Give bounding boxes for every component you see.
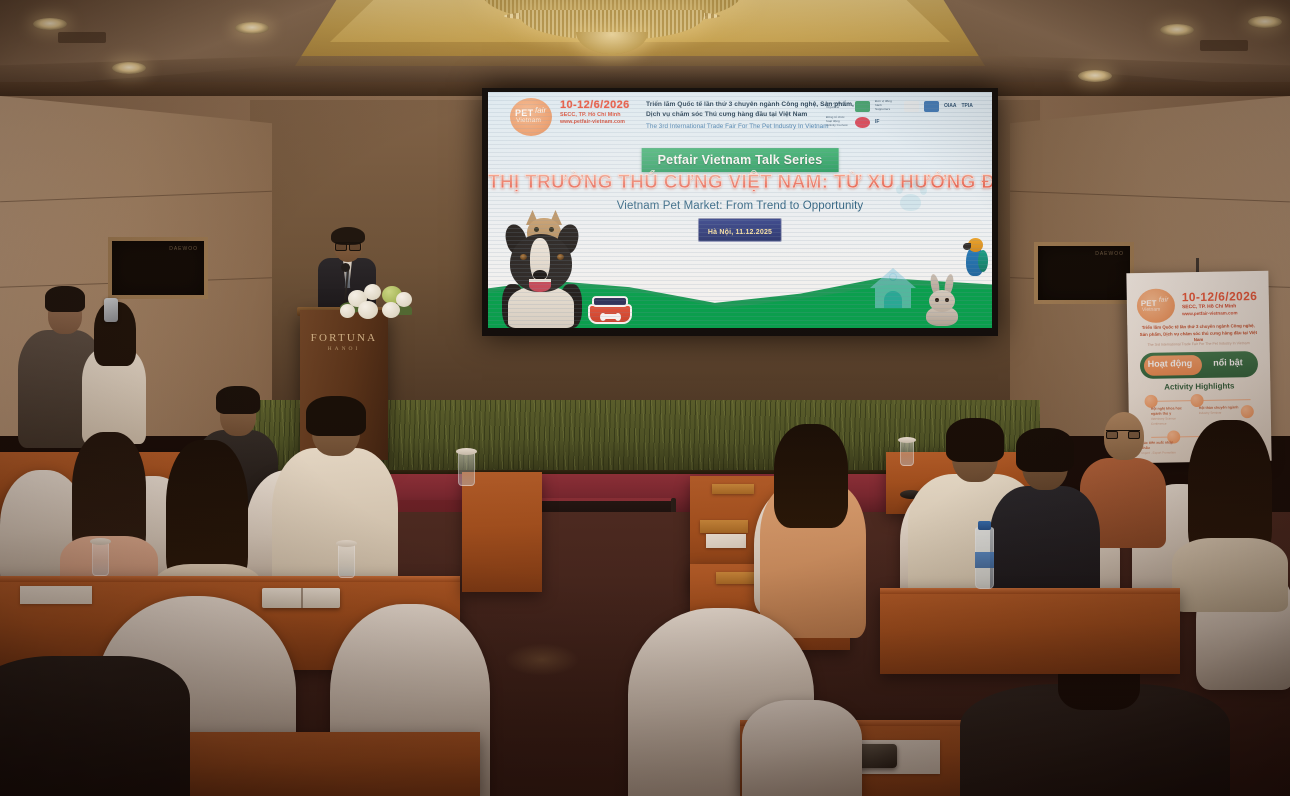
- glass-coaster: [336, 540, 357, 547]
- glass-coaster: [90, 538, 111, 545]
- downlight-icon: [1160, 24, 1194, 36]
- person-hair: [1016, 428, 1074, 472]
- dog-mouth: [529, 279, 551, 292]
- speaker-glasses-icon: [335, 242, 361, 248]
- water-glass: [92, 542, 109, 576]
- sponsor-logo-vca: [855, 101, 870, 112]
- person-glasses-icon: [1106, 430, 1140, 436]
- podium-venue-city: HANOI: [300, 346, 388, 352]
- wall-monitor-left: DAEWOO: [108, 237, 208, 299]
- event-website: www.petfair-vietnam.com: [560, 119, 630, 125]
- parrot-beak: [963, 243, 971, 250]
- sponsor-label-organizer: Đơn vị bảo trợOrganizer: [826, 102, 850, 110]
- rollup-location: SECC, TP. Hồ Chí Minh: [1182, 303, 1236, 310]
- printed-handout: [706, 534, 746, 548]
- rollup-node: [1241, 405, 1254, 418]
- paw-pad: [900, 194, 921, 211]
- dog-house-icon: [870, 268, 916, 308]
- sponsor-logo-if: IF: [875, 119, 879, 125]
- slide-content: PET fair Vietnam 10-12/6/2026 SECC, TP. …: [488, 92, 992, 328]
- dog-illustration: [504, 218, 580, 326]
- ceiling-vent: [58, 32, 106, 43]
- sponsor-label-cohost: Đồng tổ chức hoạt độngActivity Co-host: [826, 116, 850, 128]
- event-location: SECC, TP. Hồ Chí Minh: [560, 112, 630, 118]
- downlight-icon: [1078, 70, 1112, 82]
- chandelier-tier-3: [576, 32, 648, 54]
- audience-person-foreground: [0, 636, 190, 796]
- bone-icon: [603, 314, 618, 319]
- person-hair: [45, 286, 85, 312]
- sponsor-row-top: Đơn vị bảo trợOrganizer Đơn vị đồng hành…: [826, 98, 986, 114]
- paw-print-icon: [894, 180, 928, 214]
- event-info-block: 10-12/6/2026 SECC, TP. Hồ Chí Minh www.p…: [560, 99, 630, 125]
- talk-series-banner: Petfair Vietnam Talk Series: [642, 148, 839, 172]
- rabbit-head: [929, 290, 955, 312]
- paw-toe: [920, 186, 927, 195]
- presentation-screen[interactable]: PET fair Vietnam 10-12/6/2026 SECC, TP. …: [482, 88, 998, 336]
- sponsor-logo-oiaa: OIAA: [944, 103, 957, 109]
- water-glass: [338, 544, 355, 578]
- podium-venue-name: FORTUNA: [300, 332, 388, 344]
- audience-table: [880, 588, 1180, 674]
- paw-toe: [913, 180, 920, 189]
- audience-person-phone: [82, 300, 146, 440]
- wall-monitor-right: DAEWOO: [1034, 242, 1134, 304]
- rollup-logo-fair: fair: [1159, 297, 1169, 304]
- flower-white: [396, 292, 412, 307]
- downlight-icon: [235, 22, 269, 34]
- smartphone: [104, 298, 118, 322]
- downlight-icon: [1248, 16, 1282, 28]
- rollup-highlight-label: Hội thảo chuyên ngành Industry Seminar: [1199, 405, 1239, 416]
- food-bowl-rim: [592, 296, 628, 307]
- dog-house-door: [884, 291, 902, 308]
- sponsor-logo-ahav: [904, 101, 919, 112]
- sponsor-logo-circle-red: [855, 117, 870, 128]
- event-date: 10-12/6/2026: [560, 99, 630, 111]
- table-edge: [880, 588, 1180, 594]
- open-notebook: [262, 588, 340, 608]
- header-en-line: The 3rd International Trade Fair For The…: [646, 123, 829, 130]
- audience-chair: [742, 700, 862, 796]
- flower-white: [364, 284, 381, 300]
- person-hair: [216, 386, 260, 414]
- rollup-highlight-vn: Hội thảo chuyên ngành: [1199, 405, 1239, 410]
- microphone-icon: [341, 263, 350, 272]
- parrot-wing: [978, 250, 988, 272]
- audience-table: [150, 732, 480, 796]
- sponsor-logo-koha: [924, 101, 939, 112]
- talk-series-label: Petfair Vietnam Talk Series: [658, 153, 823, 167]
- person-suit: [0, 656, 190, 796]
- rollup-website: www.petfair-vietnam.com: [1182, 310, 1238, 316]
- dog-eye-left: [520, 254, 527, 260]
- audience-table: [462, 472, 542, 592]
- audience-person: [760, 424, 866, 634]
- printed-handout: [20, 586, 92, 604]
- downlight-icon: [112, 62, 146, 74]
- sponsor-logo-strip: Đơn vị bảo trợOrganizer Đơn vị đồng hành…: [826, 98, 986, 130]
- flower-white: [340, 304, 355, 318]
- rollup-desc-en: The 3rd International Trade Fair For The…: [1138, 341, 1260, 347]
- glass-coaster: [456, 448, 477, 455]
- sponsor-logo-tpia: TPIA: [962, 103, 973, 109]
- table-edge: [0, 576, 460, 582]
- water-bottle-cap: [978, 521, 991, 530]
- sponsor-row-bottom: Đồng tổ chức hoạt độngActivity Co-host I…: [826, 114, 986, 130]
- downlight-icon: [33, 18, 67, 30]
- ceiling-vent: [1200, 40, 1248, 51]
- person-hair: [774, 424, 848, 528]
- audience-person-long-hair: [1180, 420, 1280, 610]
- flower-arrangement: [338, 282, 414, 324]
- rollup-subtitle: Activity Highlights: [1138, 381, 1260, 392]
- water-bottle-label: [975, 552, 994, 568]
- dog-house-paw-icon: [889, 273, 897, 281]
- slide-header: PET fair Vietnam 10-12/6/2026 SECC, TP. …: [488, 92, 992, 140]
- monitor-brand-label: DAEWOO: [1095, 251, 1124, 257]
- logo-fair-text: fair: [535, 106, 546, 115]
- name-card: [712, 484, 754, 494]
- rollup-pill-left-label: Hoạt động: [1139, 358, 1201, 369]
- header-vn-line1: Triển lãm Quốc tế lần thứ 3 chuyên ngành…: [646, 101, 854, 108]
- rollup-logo-vietnam: Vietnam: [1142, 307, 1160, 313]
- name-card-text: [712, 486, 754, 490]
- dog-chest: [508, 286, 574, 328]
- chandelier: [478, 0, 746, 52]
- logo-vietnam-text: Vietnam: [516, 117, 541, 124]
- food-bowl-icon: [588, 296, 632, 324]
- name-card-text: [700, 522, 748, 526]
- sponsor-label-supporters: Đơn vị đồng hànhSupporters: [875, 100, 899, 112]
- parrot-illustration: [960, 236, 990, 280]
- paw-toe: [896, 185, 903, 194]
- conference-photo: DAEWOO DAEWOO PET fair Vietnam 10-12/6/2…: [0, 0, 1290, 796]
- rollup-highlight-en: Industry Seminar: [1199, 411, 1222, 415]
- rollup-pill-right-label: nổi bật: [1200, 357, 1256, 368]
- rabbit-illustration: [922, 274, 962, 326]
- flower-white: [358, 301, 378, 319]
- header-vn-line2: Dịch vụ chăm sóc Thú cưng hàng đầu tại V…: [646, 111, 807, 118]
- person-hair: [306, 396, 366, 436]
- slide-date-text: Hà Nội, 11.12.2025: [708, 229, 772, 236]
- dog-eye-right: [557, 254, 564, 260]
- rabbit-eye-right: [945, 298, 949, 302]
- rabbit-eye-left: [935, 298, 939, 302]
- rollup-date: 10-12/6/2026: [1182, 289, 1258, 304]
- monitor-brand-label: DAEWOO: [169, 246, 198, 252]
- name-card: [700, 520, 748, 533]
- paw-toe: [904, 180, 911, 189]
- person-top: [1172, 538, 1288, 612]
- slide-date-badge: Hà Nội, 11.12.2025: [698, 218, 782, 242]
- water-glass: [458, 452, 475, 486]
